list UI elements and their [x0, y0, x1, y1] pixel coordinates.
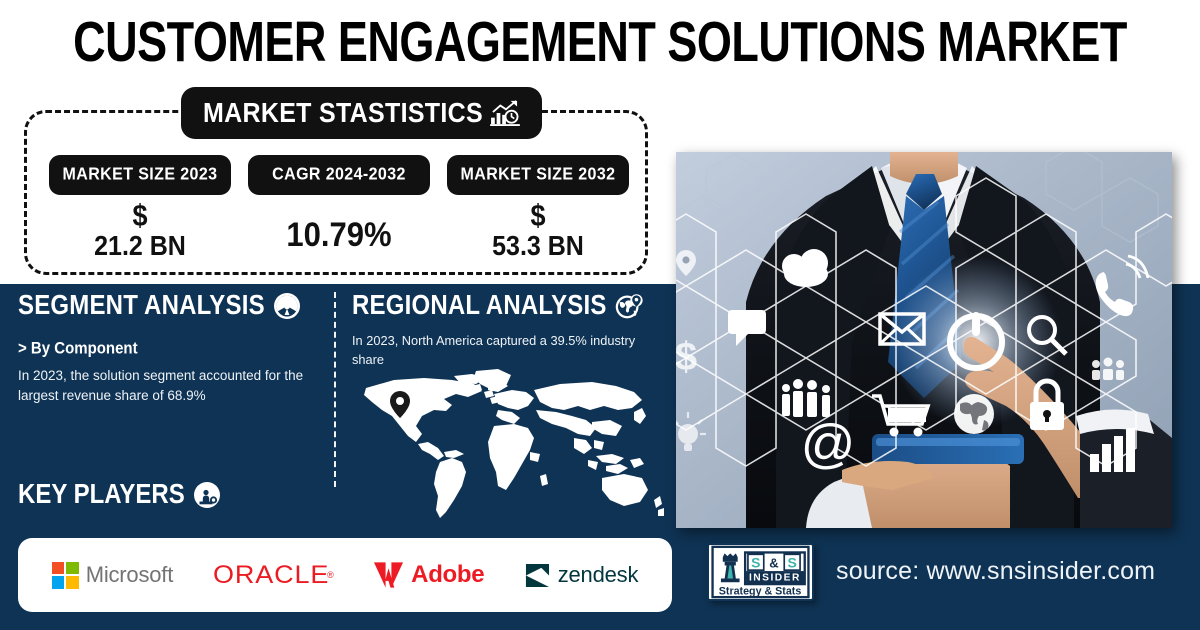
microsoft-squares-icon [52, 562, 79, 589]
key-players-title: KEY PLAYERS [18, 479, 185, 511]
stat-label: MARKET SIZE 2032 [461, 165, 616, 185]
stat-label-pill: MARKET SIZE 2023 [49, 155, 231, 195]
market-statistics-badge-label: MARKET STASTISTICS [203, 97, 483, 129]
stat-label-pill: MARKET SIZE 2032 [447, 155, 629, 195]
page-title-bar: CUSTOMER ENGAGEMENT SOLUTIONS MARKET [0, 0, 1200, 84]
logo-label-oracle: ORACLE [213, 561, 329, 590]
stat-label-pill: CAGR 2024-2032 [248, 155, 430, 195]
sns-insider-logo-svg: S & S INSIDER Strategy & Stats [709, 545, 812, 599]
logo-oracle: ORACLE ® [213, 561, 334, 590]
regional-analysis-title: REGIONAL ANALYSIS [352, 290, 607, 322]
market-statistics-row: MARKET SIZE 2023 $ 21.2 BN CAGR 2024-203… [27, 155, 651, 254]
regional-analysis-body: In 2023, North America captured a 39.5% … [352, 332, 664, 369]
globe-pin-icon [615, 292, 643, 320]
world-map-svg [348, 366, 670, 524]
svg-text:&: & [769, 555, 778, 570]
stat-cagr-2024-2032: CAGR 2024-2032 10.79% [248, 155, 430, 254]
stat-value-group: $ 53.3 BN [492, 201, 584, 260]
photo-icon-globe [954, 394, 994, 434]
logo-label-zendesk: zendesk [558, 562, 639, 588]
stat-value: 21.2 BN [94, 230, 186, 261]
stat-value: 53.3 BN [492, 230, 584, 261]
currency-symbol: $ [94, 201, 186, 232]
photo-illustration: $ [676, 152, 1172, 528]
source-text: source: www.snsinsider.com [836, 557, 1155, 586]
logo-zendesk: zendesk [524, 562, 639, 588]
world-map [348, 366, 670, 524]
stat-label: CAGR 2024-2032 [272, 165, 406, 185]
svg-text:INSIDER: INSIDER [749, 572, 801, 583]
stat-value: 10.79% [286, 201, 391, 252]
segment-analysis-title: SEGMENT ANALYSIS [18, 290, 265, 322]
stat-market-size-2023: MARKET SIZE 2023 $ 21.2 BN [49, 155, 231, 254]
adobe-a-icon [373, 561, 404, 589]
logo-adobe: Adobe [373, 561, 484, 589]
section-divider [334, 292, 336, 487]
podium-person-icon [193, 481, 221, 509]
businessman-touching-hexagon-icon-grid: $ [676, 152, 1172, 528]
logo-microsoft: Microsoft [52, 562, 173, 589]
zendesk-z-icon [524, 563, 551, 588]
sns-insider-logo: S & S INSIDER Strategy & Stats [707, 543, 814, 601]
pie-segment-icon [273, 292, 301, 320]
segment-analysis-header: SEGMENT ANALYSIS [18, 292, 318, 320]
svg-text:@: @ [801, 414, 856, 474]
svg-text:S: S [787, 554, 796, 570]
page-title: CUSTOMER ENGAGEMENT SOLUTIONS MARKET [73, 9, 1127, 75]
chart-growth-icon [490, 100, 520, 126]
segment-analysis-block: SEGMENT ANALYSIS > By Component In 2023,… [18, 292, 318, 405]
photo-icon-dollar-sign: $ [676, 335, 697, 379]
key-players-header: KEY PLAYERS [18, 481, 221, 509]
market-statistics-badge: MARKET STASTISTICS [181, 87, 542, 139]
svg-text:Strategy & Stats: Strategy & Stats [719, 585, 802, 597]
photo-icon-at-sign: @ [801, 414, 856, 474]
key-players-logo-card: Microsoft ORACLE ® Adobe zendesk [18, 538, 672, 612]
stat-label: MARKET SIZE 2023 [63, 165, 218, 185]
svg-text:$: $ [676, 335, 697, 379]
stat-market-size-2032: MARKET SIZE 2032 $ 53.3 BN [447, 155, 629, 254]
stat-value-group: $ 21.2 BN [94, 201, 186, 260]
currency-symbol: $ [492, 201, 584, 232]
logo-label-microsoft: Microsoft [86, 562, 173, 588]
logo-label-adobe: Adobe [411, 561, 484, 589]
segment-analysis-subtitle: > By Component [18, 339, 318, 358]
svg-text:S: S [751, 554, 760, 570]
regional-analysis-header: REGIONAL ANALYSIS [352, 292, 664, 320]
segment-analysis-body: In 2023, the solution segment accounted … [18, 366, 318, 405]
regional-analysis-block: REGIONAL ANALYSIS In 2023, North America… [352, 292, 664, 369]
